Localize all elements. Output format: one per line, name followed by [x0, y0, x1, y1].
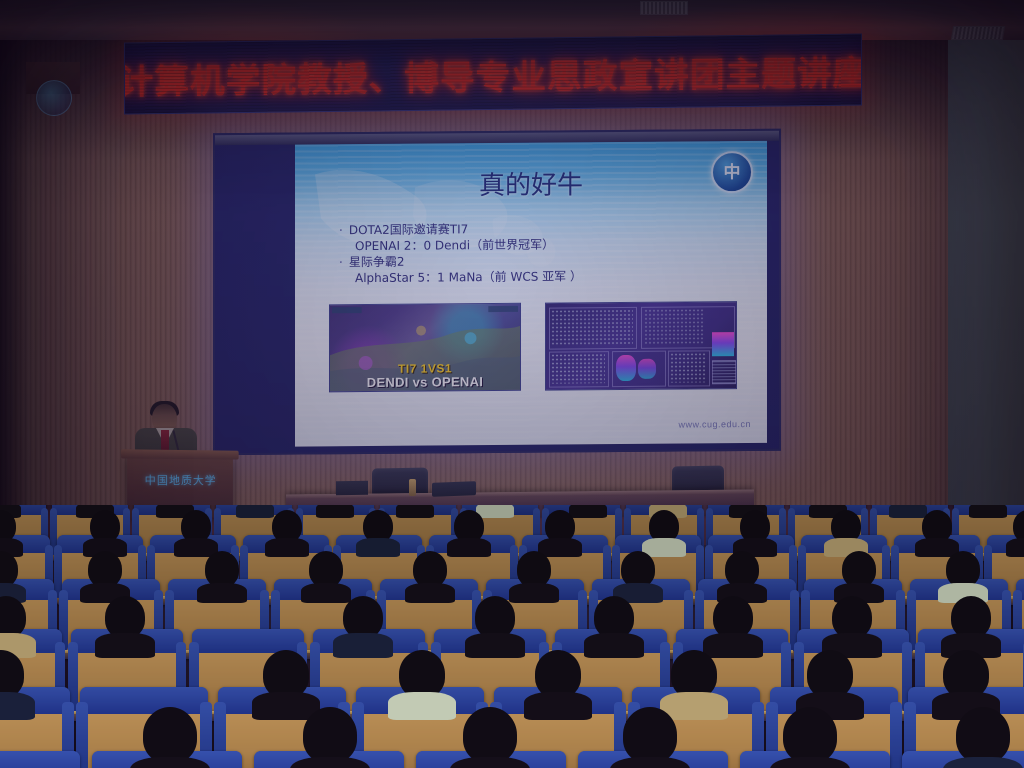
- audience-member: [951, 596, 991, 638]
- audience-member: [263, 650, 309, 698]
- audience-member: [343, 596, 383, 638]
- audience-member: [740, 510, 770, 542]
- audience-member: [105, 596, 145, 638]
- equipment-box: [336, 481, 368, 496]
- audience-member: [545, 510, 575, 542]
- audience-member: [946, 551, 980, 587]
- audience-member-torso: [333, 633, 392, 657]
- university-seal-icon: [36, 80, 72, 116]
- audience-member-torso: [447, 538, 491, 557]
- auditorium-seating: [0, 505, 1024, 768]
- lecture-hall-photo: 计算机学院教授、博导专业思政宣讲团主题讲座 中 真的好牛 · DOTA2国际邀请…: [0, 0, 1024, 768]
- bullet-marker: ·: [339, 222, 343, 238]
- audience-member: [363, 510, 393, 542]
- audience-member: [303, 707, 357, 763]
- bullet-text-primary: 星际争霸2: [349, 254, 405, 270]
- audience-member: [725, 551, 759, 587]
- side-wall: [948, 40, 1024, 520]
- speaker-tie: [161, 430, 169, 452]
- audience-member: [205, 551, 239, 587]
- seat-armrest: [890, 702, 902, 768]
- ceiling-vent-icon: [951, 26, 1005, 40]
- audience-member: [463, 707, 517, 763]
- dota2-ti7-screenshot: TI7 1VS1 DENDI vs OPENAI: [329, 303, 521, 393]
- audience-member: [413, 551, 447, 587]
- audience-member: [454, 510, 484, 542]
- water-bottle: [409, 479, 416, 496]
- dota2-caption-bottom: DENDI vs OPENAI: [330, 375, 520, 389]
- audience-member: [181, 510, 211, 542]
- viz-colorbar: [712, 332, 734, 356]
- ceiling-red-glow-secondary: [120, 0, 380, 40]
- ceiling-vent-icon: [640, 1, 688, 15]
- audience-member-torso: [265, 538, 309, 557]
- audience-member: [807, 650, 853, 698]
- podium-top-surface: [121, 449, 239, 459]
- seat-cushion: [0, 751, 80, 768]
- viz-bar-chart: [712, 360, 736, 384]
- audience-member: [649, 510, 679, 542]
- audience-member-torso: [703, 633, 762, 657]
- audience-member-torso: [0, 692, 35, 720]
- audience-member: [623, 707, 677, 763]
- audience-member: [621, 551, 655, 587]
- audience-member: [535, 650, 581, 698]
- alphastar-visualization: [545, 301, 737, 391]
- audience-member-torso: [95, 633, 154, 657]
- audience-member-torso: [396, 505, 434, 518]
- audience-member: [309, 551, 343, 587]
- audience-member: [831, 510, 861, 542]
- viz-scatter: [551, 353, 605, 383]
- audience-member: [842, 551, 876, 587]
- audience-member: [832, 596, 872, 638]
- viz-scatter: [670, 352, 706, 382]
- audience-member: [143, 707, 197, 763]
- audience-member-torso: [1006, 538, 1024, 557]
- dota2-caption-top: TI7 1VS1: [330, 362, 520, 375]
- audience-member: [90, 510, 120, 542]
- audience-member: [943, 650, 989, 698]
- slide-footer-url: www.cug.edu.cn: [678, 419, 751, 430]
- bullet-marker: ·: [339, 254, 343, 270]
- audience-member-torso: [524, 692, 592, 720]
- viz-heatmap-blob: [616, 355, 636, 381]
- audience-member-torso: [356, 538, 400, 557]
- audience-member: [475, 596, 515, 638]
- slide-title: 真的好牛: [295, 163, 767, 204]
- slide-bullet-list: · DOTA2国际邀请赛TI7 OPENAI 2：0 Dendi（前世界冠军） …: [339, 219, 759, 286]
- led-banner: 计算机学院教授、博导专业思政宣讲团主题讲座: [124, 33, 862, 114]
- audience-member: [783, 707, 837, 763]
- projection-screen: 中 真的好牛 · DOTA2国际邀请赛TI7 OPENAI 2：0 Dendi（…: [213, 129, 781, 455]
- bullet-text-primary: DOTA2国际邀请赛TI7: [349, 221, 468, 238]
- bullet-text-secondary: AlphaStar 5：1 MaNa（前 WCS 亚军 ）: [339, 267, 759, 286]
- podium-institution-text: 中国地质大学: [127, 472, 233, 488]
- audience-member-torso: [569, 505, 607, 518]
- auditorium-seat: [0, 751, 80, 768]
- audience-member-torso: [509, 583, 559, 604]
- viz-scatter: [551, 309, 633, 346]
- audience-member-torso: [584, 633, 643, 657]
- audience-member-torso: [197, 583, 247, 604]
- audience-member: [399, 650, 445, 698]
- audience-member-torso: [889, 505, 927, 518]
- audience-member: [713, 596, 753, 638]
- dota2-caption: TI7 1VS1 DENDI vs OPENAI: [330, 362, 520, 389]
- wall-left-shadow: [0, 40, 30, 520]
- audience-member: [671, 650, 717, 698]
- audience-member-torso: [476, 505, 514, 518]
- audience-member: [88, 551, 122, 587]
- slide-image-row: TI7 1VS1 DENDI vs OPENAI: [329, 301, 737, 390]
- viz-heatmap-blob: [638, 359, 656, 379]
- audience-member-torso: [465, 633, 524, 657]
- presentation-slide: 中 真的好牛 · DOTA2国际邀请赛TI7 OPENAI 2：0 Dendi（…: [295, 141, 767, 447]
- audience-member: [922, 510, 952, 542]
- audience-member-torso: [405, 583, 455, 604]
- audience-member-torso: [301, 583, 351, 604]
- laptop: [432, 481, 476, 497]
- audience-member: [517, 551, 551, 587]
- led-banner-text: 计算机学院教授、博导专业思政宣讲团主题讲座: [124, 45, 862, 103]
- audience-member-torso: [388, 692, 456, 720]
- audience-member-torso: [316, 505, 354, 518]
- audience-member-torso: [236, 505, 274, 518]
- audience-member: [272, 510, 302, 542]
- seat-cushion: [80, 687, 208, 714]
- viz-scatter: [644, 308, 704, 344]
- audience-member: [956, 707, 1010, 763]
- audience-member: [594, 596, 634, 638]
- audience-member-torso: [969, 505, 1007, 518]
